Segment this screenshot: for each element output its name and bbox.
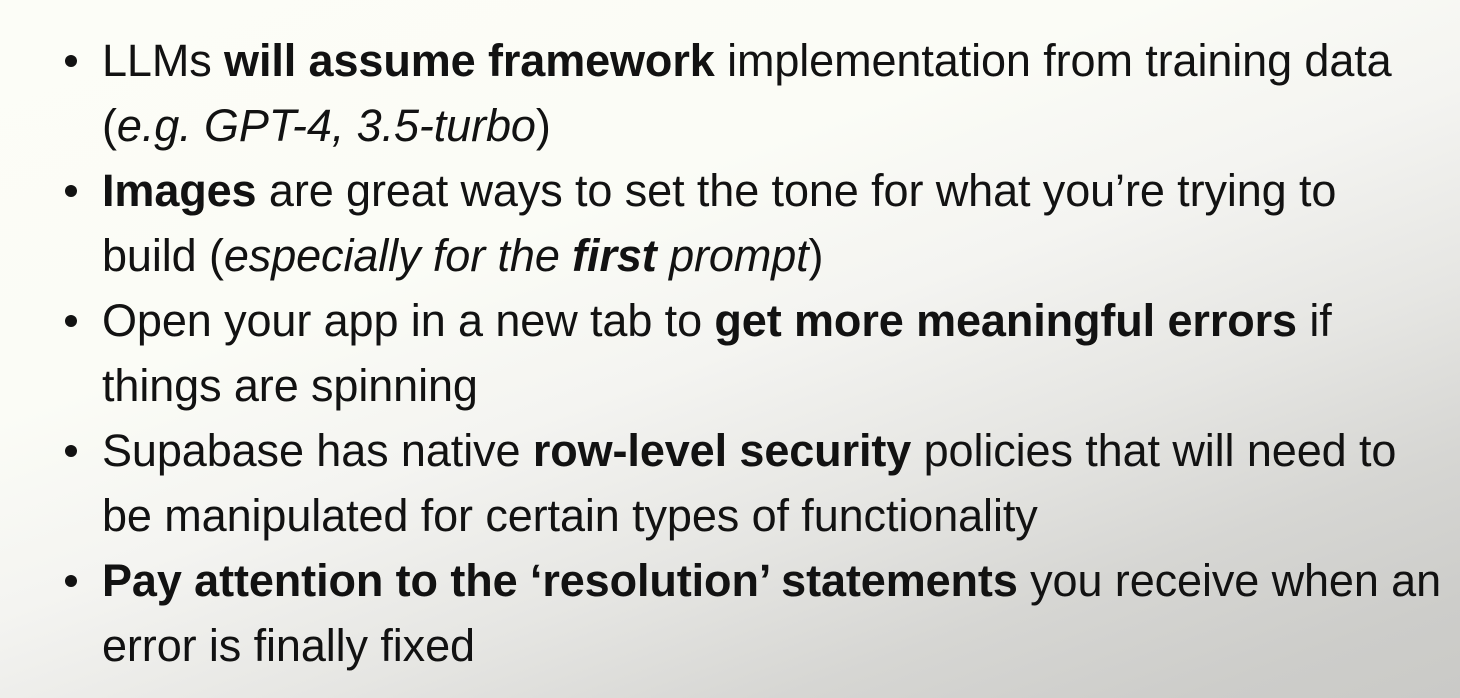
list-item: Pay attention to the ‘resolution’ statem… — [56, 548, 1442, 678]
text-run: LLMs — [102, 35, 224, 86]
bullet-dot-icon — [65, 185, 77, 197]
text-run: will assume framework — [224, 35, 715, 86]
bullet-text: LLMs will assume framework implementatio… — [102, 28, 1442, 158]
bullet-dot-icon — [65, 445, 77, 457]
bullet-text: Pay attention to the ‘resolution’ statem… — [102, 548, 1442, 678]
text-run: get more meaningful errors — [714, 295, 1297, 346]
list-item: LLMs will assume framework implementatio… — [56, 28, 1442, 158]
text-run: Open your app in a new tab to — [102, 295, 714, 346]
bullet-text: Supabase has native row-level security p… — [102, 418, 1442, 548]
bullet-dot-icon — [65, 315, 77, 327]
list-item: Open your app in a new tab to get more m… — [56, 288, 1442, 418]
text-run: Supabase has native — [102, 425, 533, 476]
list-item: Images are great ways to set the tone fo… — [56, 158, 1442, 288]
text-run: e.g. GPT-4, 3.5-turbo — [117, 100, 536, 151]
bullet-text: Open your app in a new tab to get more m… — [102, 288, 1442, 418]
bullet-list: LLMs will assume framework implementatio… — [56, 28, 1442, 678]
text-run: prompt — [657, 230, 809, 281]
slide-canvas: LLMs will assume framework implementatio… — [0, 0, 1460, 698]
text-run: ) — [536, 100, 551, 151]
bullet-dot-icon — [65, 575, 77, 587]
text-run: Pay attention to the ‘resolution’ statem… — [102, 555, 1018, 606]
text-run: ) — [809, 230, 824, 281]
list-item: Supabase has native row-level security p… — [56, 418, 1442, 548]
text-run: Images — [102, 165, 256, 216]
text-run: especially for the — [224, 230, 572, 281]
bullet-text: Images are great ways to set the tone fo… — [102, 158, 1442, 288]
text-run: first — [572, 230, 657, 281]
text-run: row-level security — [533, 425, 911, 476]
bullet-dot-icon — [65, 55, 77, 67]
